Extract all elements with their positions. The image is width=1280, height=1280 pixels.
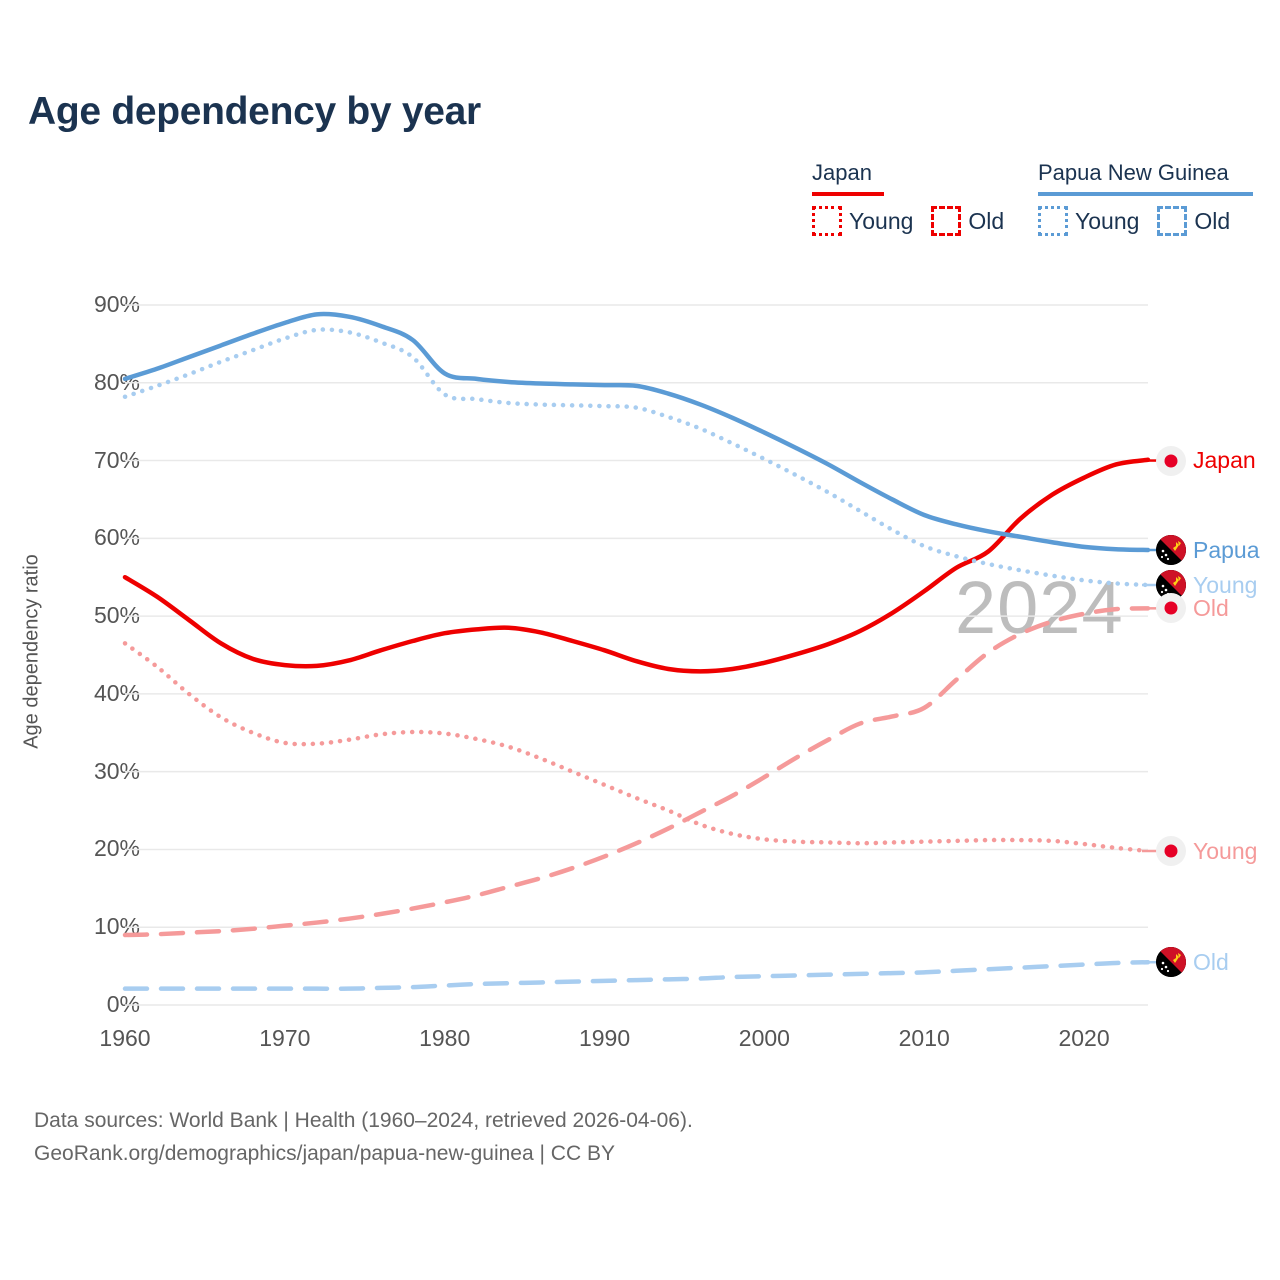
end-label-old2[interactable]: Old (1156, 947, 1229, 977)
dashed-swatch-icon (931, 206, 961, 236)
page-title: Age dependency by year (28, 90, 481, 134)
legend-label-japan-old: Old (968, 208, 1004, 235)
legend-item-png-old[interactable]: Old (1157, 206, 1230, 236)
series-line-japan-total (125, 460, 1148, 672)
chart-legend: Japan Young Old Papua New Guinea Young (0, 160, 1280, 240)
legend-label-png-young: Young (1075, 208, 1139, 235)
papua-new-guinea-flag-icon (1156, 535, 1186, 565)
plot-area: Age dependency ratio 90%80%70%60%50%40%3… (0, 270, 1280, 1060)
legend-country-japan[interactable]: Japan (812, 160, 872, 189)
dotted-swatch-icon (812, 206, 842, 236)
footer-data-sources: Data sources: World Bank | Health (1960–… (34, 1105, 693, 1138)
end-label-text: Young (1193, 838, 1257, 865)
legend-item-japan-young[interactable]: Young (812, 206, 913, 236)
series-line-papua-new-guinea-old (125, 962, 1148, 989)
series-line-japan-young (125, 643, 1148, 851)
line-chart-svg (0, 270, 1280, 1060)
legend-rule-papua-new-guinea (1038, 192, 1253, 196)
legend-item-png-young[interactable]: Young (1038, 206, 1139, 236)
end-label-papua[interactable]: Papua (1156, 535, 1260, 565)
end-label-text: Japan (1193, 447, 1256, 474)
japan-flag-icon (1156, 446, 1186, 476)
legend-country-papua-new-guinea[interactable]: Papua New Guinea (1038, 160, 1229, 189)
japan-flag-icon (1156, 836, 1186, 866)
legend-label-japan-young: Young (849, 208, 913, 235)
legend-label-png-old: Old (1194, 208, 1230, 235)
papua-new-guinea-flag-icon (1156, 947, 1186, 977)
end-label-text: Old (1193, 949, 1229, 976)
legend-group-papua-new-guinea: Papua New Guinea Young Old (1038, 160, 1253, 236)
end-label-japan[interactable]: Japan (1156, 446, 1256, 476)
series-line-papua-new-guinea-total (125, 314, 1148, 550)
end-label-text: Old (1193, 595, 1229, 622)
dashed-swatch-icon (1157, 206, 1187, 236)
footer: Data sources: World Bank | Health (1960–… (34, 1105, 693, 1170)
chart-page: Age dependency by year Japan Young Old P… (0, 0, 1280, 1280)
legend-item-japan-old[interactable]: Old (931, 206, 1004, 236)
legend-group-japan: Japan Young Old (812, 160, 1004, 236)
legend-rule-japan (812, 192, 884, 196)
japan-flag-icon (1156, 593, 1186, 623)
dotted-swatch-icon (1038, 206, 1068, 236)
footer-attribution[interactable]: GeoRank.org/demographics/japan/papua-new… (34, 1138, 693, 1171)
end-label-old[interactable]: Old (1156, 593, 1229, 623)
end-label-text: Papua (1193, 537, 1260, 564)
end-label-young2[interactable]: Young (1156, 836, 1257, 866)
